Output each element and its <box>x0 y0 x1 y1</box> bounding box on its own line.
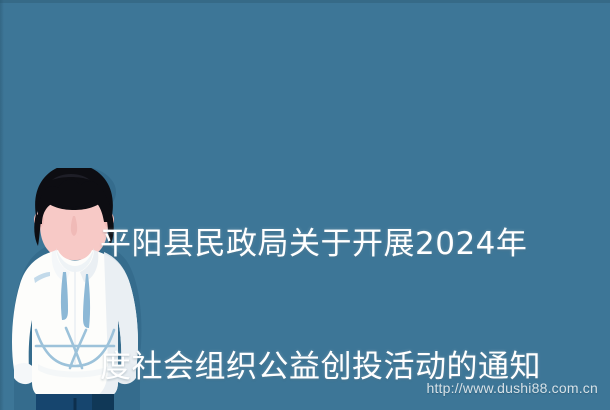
title-line-1: 平阳县民政局关于开展2024年 <box>100 224 600 265</box>
source-watermark: http://www.dushi88.com.cn <box>426 380 598 396</box>
page-title: 平阳县民政局关于开展2024年 度社会组织公益创投活动的通知 <box>100 142 600 410</box>
article-cover-banner: 平阳县民政局关于开展2024年 度社会组织公益创投活动的通知 http://ww… <box>0 0 610 410</box>
top-edge-strip <box>0 0 610 3</box>
